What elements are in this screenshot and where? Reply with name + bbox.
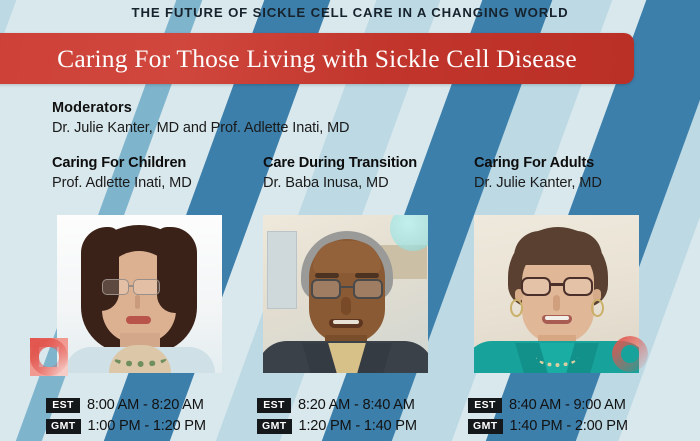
session-title-3: Caring For Adults <box>474 155 689 171</box>
session-speaker-3: Dr. Julie Kanter, MD <box>474 175 689 191</box>
necklace-shape <box>113 349 167 367</box>
teeth-shape <box>545 316 569 320</box>
session-times-2: EST 8:20 AM - 8:40 AM GMT 1:20 PM - 1:40… <box>257 396 472 438</box>
time-row: EST 8:00 AM - 8:20 AM <box>46 396 261 414</box>
timezone-badge-est: EST <box>46 398 80 413</box>
session-column-3: Caring For Adults Dr. Julie Kanter, MD <box>474 155 689 191</box>
time-range-gmt: 1:20 PM - 1:40 PM <box>299 418 417 434</box>
session-title-2: Care During Transition <box>263 155 478 171</box>
time-range-est: 8:20 AM - 8:40 AM <box>298 397 415 413</box>
hair-fringe <box>514 231 602 265</box>
eyeglass-lens-right <box>353 279 383 299</box>
webinar-poster: THE FUTURE OF SICKLE CELL CARE IN A CHAN… <box>0 0 700 441</box>
session-speaker-1: Prof. Adlette Inati, MD <box>52 175 267 191</box>
earring-right <box>591 299 604 317</box>
time-row: EST 8:40 AM - 9:00 AM <box>468 396 683 414</box>
decorative-ring-left-icon <box>30 338 68 376</box>
session-times-3: EST 8:40 AM - 9:00 AM GMT 1:40 PM - 2:00… <box>468 396 683 438</box>
time-row: GMT 1:40 PM - 2:00 PM <box>468 417 683 435</box>
time-range-est: 8:40 AM - 9:00 AM <box>509 397 626 413</box>
time-row: GMT 1:00 PM - 1:20 PM <box>46 417 261 435</box>
eyeglass-lens-right <box>133 279 160 295</box>
session-column-1: Caring For Children Prof. Adlette Inati,… <box>52 155 267 191</box>
necklace-shape <box>536 347 578 367</box>
session-title-1: Caring For Children <box>52 155 267 171</box>
eyeglass-lens-left <box>521 277 551 296</box>
time-row: GMT 1:20 PM - 1:40 PM <box>257 417 472 435</box>
decorative-ring-right-icon <box>612 336 648 372</box>
mouth-shape <box>126 316 151 324</box>
eyeglass-bridge <box>551 283 563 286</box>
earring-left <box>510 299 523 317</box>
nose-shape <box>341 297 351 315</box>
eyeglass-lens-left <box>102 279 129 295</box>
timezone-badge-gmt: GMT <box>257 419 292 434</box>
time-range-est: 8:00 AM - 8:20 AM <box>87 397 204 413</box>
speaker-photo-1 <box>57 215 222 373</box>
portrait-baba-inusa <box>263 215 428 373</box>
forehead-shape <box>313 241 381 273</box>
nose-shape <box>553 295 560 311</box>
eyeglass-bridge <box>129 285 134 287</box>
eyeglass-bridge <box>341 286 353 288</box>
eyeglass-lens-left <box>311 279 341 299</box>
eyebrow-right <box>355 273 379 278</box>
timezone-badge-gmt: GMT <box>46 419 81 434</box>
speaker-photo-2 <box>263 215 428 373</box>
hair-front-right <box>157 227 197 313</box>
timezone-badge-est: EST <box>468 398 502 413</box>
eyebrow-left <box>315 273 339 278</box>
session-speaker-2: Dr. Baba Inusa, MD <box>263 175 478 191</box>
session-column-2: Care During Transition Dr. Baba Inusa, M… <box>263 155 478 191</box>
teeth-shape <box>333 320 359 324</box>
time-range-gmt: 1:00 PM - 1:20 PM <box>88 418 206 434</box>
timezone-badge-est: EST <box>257 398 291 413</box>
hair-front-left <box>81 227 119 311</box>
eyeglass-lens-right <box>563 277 593 296</box>
wall-panel-left <box>267 231 297 309</box>
nose-shape <box>135 295 140 309</box>
time-row: EST 8:20 AM - 8:40 AM <box>257 396 472 414</box>
time-range-gmt: 1:40 PM - 2:00 PM <box>510 418 628 434</box>
timezone-badge-gmt: GMT <box>468 419 503 434</box>
portrait-adlette-inati <box>57 215 222 373</box>
session-times-1: EST 8:00 AM - 8:20 AM GMT 1:00 PM - 1:20… <box>46 396 261 438</box>
